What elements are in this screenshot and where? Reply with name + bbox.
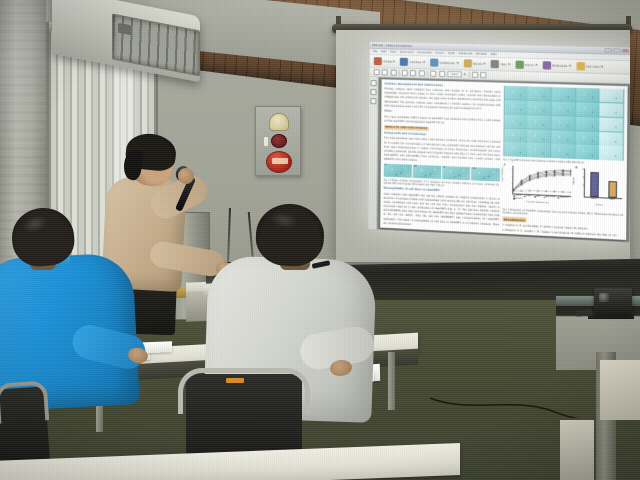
toolbar-button-comment[interactable]: Comment	[576, 61, 603, 70]
chart-b-xlabel: Cell line	[574, 203, 623, 207]
chart-a-xtick: 7	[570, 197, 571, 199]
menu-view[interactable]: View	[390, 50, 397, 54]
chart-a-ytick: 8	[512, 162, 513, 164]
chevron-down-icon[interactable]	[423, 61, 425, 63]
hand-tool-icon[interactable]	[402, 69, 408, 75]
chart-a-ylabel: Log TCID50/ml	[502, 166, 504, 181]
toolbar-label-comment: Comment	[586, 64, 600, 68]
pdf-page: Cell line development and maintenance Pr…	[380, 79, 627, 240]
chart-a-legend-entry: HAOEMP2	[557, 197, 569, 200]
chart-a-legend-entry: HEaAO1	[513, 197, 523, 199]
micrograph-cell	[575, 131, 599, 145]
chart-b-ytick: 0	[583, 194, 584, 196]
window-controls	[604, 48, 629, 53]
toolbar-label-sign: Sign	[501, 62, 507, 66]
lock-icon	[463, 59, 471, 67]
paragraph-4: Upon infection with HearNPV the cell lin…	[383, 192, 499, 231]
micrograph-cell	[575, 145, 599, 159]
create-icon	[374, 57, 382, 65]
chart-b-ytick: 40	[582, 177, 584, 179]
alarm-slot	[264, 137, 268, 146]
micrograph-cell	[576, 102, 600, 116]
combine-icon	[400, 57, 408, 65]
minimize-button[interactable]	[604, 48, 612, 53]
pc-tower	[560, 420, 594, 480]
micrograph-cell	[527, 143, 550, 157]
micrograph-cell	[551, 130, 574, 144]
alarm-bell-icon	[269, 113, 289, 131]
legend-label: HzAO2	[526, 195, 532, 197]
toolbar-label-forms: Forms	[525, 62, 534, 66]
email-icon[interactable]	[390, 69, 396, 75]
toolbar-label-multimedia: Multimedia	[552, 63, 567, 67]
multimedia-icon	[542, 61, 550, 69]
bar	[590, 172, 599, 198]
menu-forms[interactable]: Forms	[436, 51, 445, 55]
toolbar-button-sign[interactable]: Sign	[491, 59, 510, 68]
zoom-level-field[interactable]: 100%	[447, 71, 461, 77]
toolbar-button-forms[interactable]: Forms	[515, 60, 537, 69]
toolbar-label-combine: Combine	[409, 59, 421, 63]
micrograph-cell	[576, 88, 600, 102]
line-chart-extracellular-virus: A Log TCID50/ml 0246801234567 HzAO1HzAO2…	[503, 163, 573, 210]
document-viewport[interactable]: Cell line development and maintenance Pr…	[377, 77, 630, 242]
menu-window[interactable]: Window	[476, 52, 487, 56]
chart-b-plot-area: 0204060HzAO1HAO1	[584, 168, 622, 199]
paragraph-1: Primary cultures were initiated from emb…	[384, 87, 500, 112]
micrograph-cell	[600, 117, 624, 131]
chair-frame	[0, 380, 49, 424]
save-icon[interactable]	[374, 69, 380, 75]
alarm-push-button[interactable]	[266, 151, 292, 173]
micrograph-cell	[528, 129, 551, 143]
micrograph-cell	[600, 132, 624, 146]
toolbar-button-secure[interactable]: Secure	[463, 59, 486, 68]
chart-b-xtick: HAO1	[610, 199, 616, 201]
legend-label: HAOEMP1	[546, 196, 555, 198]
menu-document[interactable]: Document	[400, 50, 414, 54]
legend-label: HEaAO1	[515, 197, 522, 199]
micrograph-label: SP	[414, 166, 417, 168]
micrograph-cell	[600, 103, 624, 117]
micrograph-cell	[504, 142, 527, 156]
fit-page-icon[interactable]	[471, 71, 477, 77]
references-band: REFERENCES	[503, 217, 527, 223]
legend-label: HAO1	[536, 196, 541, 198]
micrograph-label: OB	[472, 168, 475, 170]
micrograph-cell	[552, 101, 575, 115]
micrograph-cell	[504, 114, 527, 128]
micrograph-cell	[552, 116, 575, 130]
sign-icon	[491, 59, 499, 67]
chevron-down-icon[interactable]	[484, 62, 486, 64]
toolbar-button-multimedia[interactable]: Multimedia	[542, 61, 570, 70]
micrograph-cell	[551, 144, 574, 158]
chart-b-ytick: 20	[582, 185, 584, 187]
lecture-room-photo: PDF.pdf - Adobe Acrobat Pro File Edit Vi…	[0, 0, 640, 480]
projected-application-window: PDF.pdf - Adobe Acrobat Pro File Edit Vi…	[368, 42, 630, 242]
chart-a-legend-entry: HAO1	[534, 196, 541, 198]
chart-a-series	[513, 166, 571, 197]
fit-width-icon[interactable]	[480, 71, 486, 77]
micrograph-panel: IR	[442, 166, 471, 180]
document-right-column: Fig. 1 HearNPV-infected cells showing oc…	[502, 85, 624, 237]
chevron-down-icon[interactable]	[464, 73, 466, 75]
chair-frame	[178, 368, 310, 414]
micrograph-panel: S	[384, 164, 412, 178]
chevron-down-icon[interactable]	[393, 60, 395, 62]
chart-b-xtick: HzAO1	[591, 198, 598, 200]
toolbar-label-collaborate: Collaborate	[439, 60, 455, 64]
bar-chart-occlusion-bodies: B OB/cell 0204060HzAO1HAO1 Cell line	[574, 166, 623, 212]
micrograph-cell	[504, 100, 527, 114]
menu-file[interactable]: File	[373, 49, 378, 53]
select-tool-icon[interactable]	[410, 70, 416, 76]
micrograph-cell	[552, 87, 575, 101]
close-button[interactable]	[622, 48, 630, 53]
micrograph-cell	[504, 86, 527, 100]
menu-tools[interactable]: Tools	[448, 51, 455, 55]
toolbar-separator	[399, 69, 400, 75]
micrograph-cell	[576, 116, 600, 130]
application-body: Cell line development and maintenance Pr…	[368, 76, 630, 242]
document-left-column: Cell line development and maintenance Pr…	[383, 82, 501, 232]
micrograph-cell	[504, 128, 527, 142]
chair-label	[226, 378, 244, 383]
micrograph-cell	[599, 146, 623, 161]
chart-a-legend-entry: HAOEMP1	[544, 196, 556, 199]
figure-1-micrograph-grid	[503, 85, 624, 161]
print-icon[interactable]	[382, 69, 388, 75]
collaborate-icon	[430, 58, 438, 66]
micrograph-cell	[528, 101, 551, 115]
toolbar-button-create[interactable]: Create	[374, 57, 395, 66]
micrograph-label: IR	[443, 167, 445, 169]
menu-help[interactable]: Help	[490, 52, 496, 56]
attachments-icon[interactable]	[370, 98, 376, 104]
toolbar-separator	[427, 70, 428, 76]
bar	[608, 181, 617, 198]
micrograph-cell	[528, 87, 551, 101]
projection-screen: PDF.pdf - Adobe Acrobat Pro File Edit Vi…	[336, 30, 630, 262]
maximize-button[interactable]	[613, 48, 621, 53]
micrograph-cell	[528, 115, 551, 129]
comment-icon	[576, 61, 585, 69]
pages-icon[interactable]	[370, 89, 376, 95]
menu-comments[interactable]: Comments	[417, 50, 432, 54]
toolbar-button-collaborate[interactable]: Collaborate	[430, 58, 458, 67]
toolbar-button-combine[interactable]: Combine	[400, 57, 425, 66]
chevron-down-icon[interactable]	[569, 64, 571, 66]
menu-edit[interactable]: Edit	[381, 50, 386, 54]
chevron-down-icon[interactable]	[601, 65, 603, 67]
acrobat-window: PDF.pdf - Adobe Acrobat Pro File Edit Vi…	[368, 42, 630, 242]
chevron-down-icon[interactable]	[456, 62, 458, 64]
fire-alarm-panel[interactable]	[255, 106, 301, 176]
chart-a-plot-area: 0246801234567	[512, 166, 571, 198]
zoom-in-icon[interactable]	[439, 70, 445, 76]
menu-advanced[interactable]: Advanced	[458, 51, 472, 55]
chevron-down-icon[interactable]	[508, 63, 510, 65]
chart-b-ylabel: OB/cell	[574, 177, 576, 184]
micrograph-cell	[600, 89, 624, 103]
projector-lens-icon	[599, 293, 609, 302]
paragraph-3: The final subculture was done when cells…	[384, 137, 500, 167]
window-title: PDF.pdf - Adobe Acrobat Pro	[372, 43, 412, 48]
bookmarks-icon[interactable]	[371, 80, 377, 86]
micrograph-label: S	[385, 164, 387, 166]
toolbar-label-create: Create	[383, 59, 392, 63]
forms-icon	[515, 60, 523, 68]
micrograph-panel: SP	[413, 165, 441, 179]
white-cabinet	[600, 360, 640, 420]
micrograph-panel: OB	[471, 167, 500, 181]
chart-panel-tag-b: B	[575, 166, 577, 169]
snapshot-icon[interactable]	[419, 70, 425, 76]
chart-b-ytick: 60	[582, 169, 584, 171]
figure-3-charts: A Log TCID50/ml 0246801234567 HzAO1HzAO2…	[503, 163, 624, 212]
alarm-indicator-lamp	[271, 134, 287, 148]
zoom-out-icon[interactable]	[430, 70, 436, 76]
legend-label: HAOEMP2	[560, 197, 569, 199]
toolbar-label-secure: Secure	[473, 61, 483, 65]
chart-a-legend-entry: HzAO2	[524, 195, 532, 197]
desk-leg	[388, 352, 395, 410]
toolbar-separator	[469, 71, 470, 77]
chevron-down-icon[interactable]	[535, 64, 537, 66]
